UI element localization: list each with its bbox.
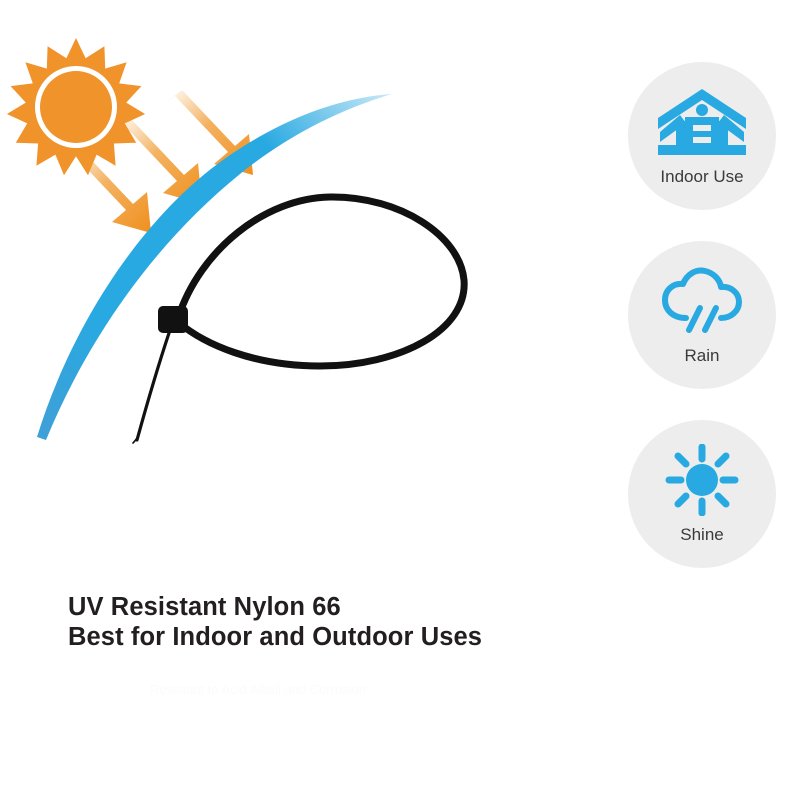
badge-label-rain: Rain [685,346,720,366]
infographic-canvas: UV Resistant Nylon 66 Best for Indoor an… [0,0,800,800]
house-icon [654,86,750,158]
badge-indoor-use[interactable]: Indoor Use [628,62,776,210]
badge-label-indoor-use: Indoor Use [660,167,743,187]
rain-cloud-icon [658,265,746,337]
headline-block: UV Resistant Nylon 66 Best for Indoor an… [68,592,588,652]
headline-line-1: UV Resistant Nylon 66 [68,592,588,622]
feature-badge-list: Indoor Use Rain [628,62,780,599]
black-cable-tie [133,197,464,443]
cable-tie-head [158,306,188,333]
badge-shine[interactable]: Shine [628,420,776,568]
badge-rain[interactable]: Rain [628,241,776,389]
uv-ray-arrow-1 [62,148,151,233]
badge-label-shine: Shine [680,525,723,545]
faint-subtext: Resistant to Acid Alkali and Corrosion [150,682,570,697]
uv-illustration [0,0,620,580]
sun-shine-icon [664,444,740,516]
headline-line-2: Best for Indoor and Outdoor Uses [68,622,588,652]
